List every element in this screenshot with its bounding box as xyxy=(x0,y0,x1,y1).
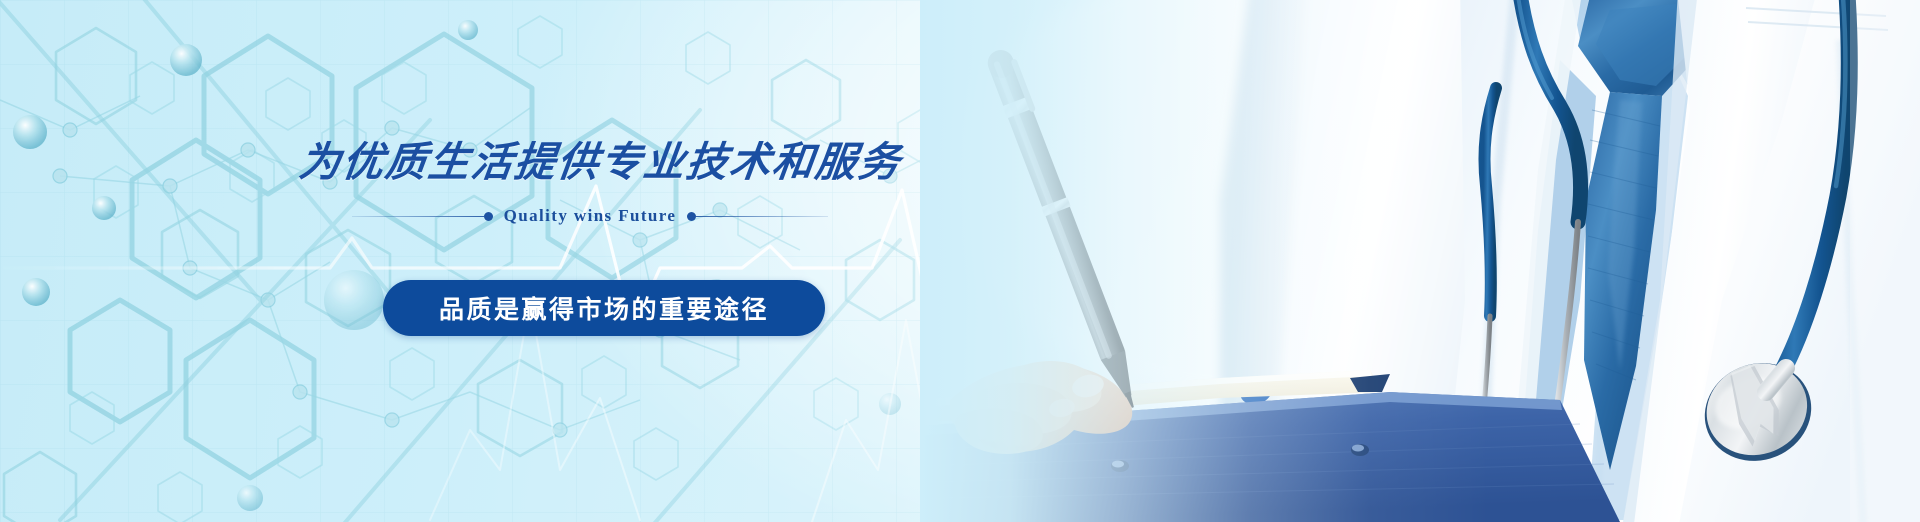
divider: Quality wins Future xyxy=(352,205,828,227)
page-title: 为优质生活提供专业技术和服务 xyxy=(296,128,905,188)
divider-line-right xyxy=(696,216,828,217)
slogan-pill-button[interactable]: 品质是赢得市场的重要途径 xyxy=(383,280,825,336)
divider-line-left xyxy=(352,216,484,217)
divider-label: Quality wins Future xyxy=(493,206,688,226)
dot-icon xyxy=(687,212,696,221)
doctor-with-clipboard-photo xyxy=(920,0,1920,522)
slogan-pill-label: 品质是赢得市场的重要途径 xyxy=(439,290,769,326)
dot-icon xyxy=(484,212,493,221)
banner-text-block: 为优质生活提供专业技术和服务 Quality wins Future 品质是赢得… xyxy=(0,0,900,522)
hero-banner: 为优质生活提供专业技术和服务 Quality wins Future 品质是赢得… xyxy=(0,0,1920,522)
